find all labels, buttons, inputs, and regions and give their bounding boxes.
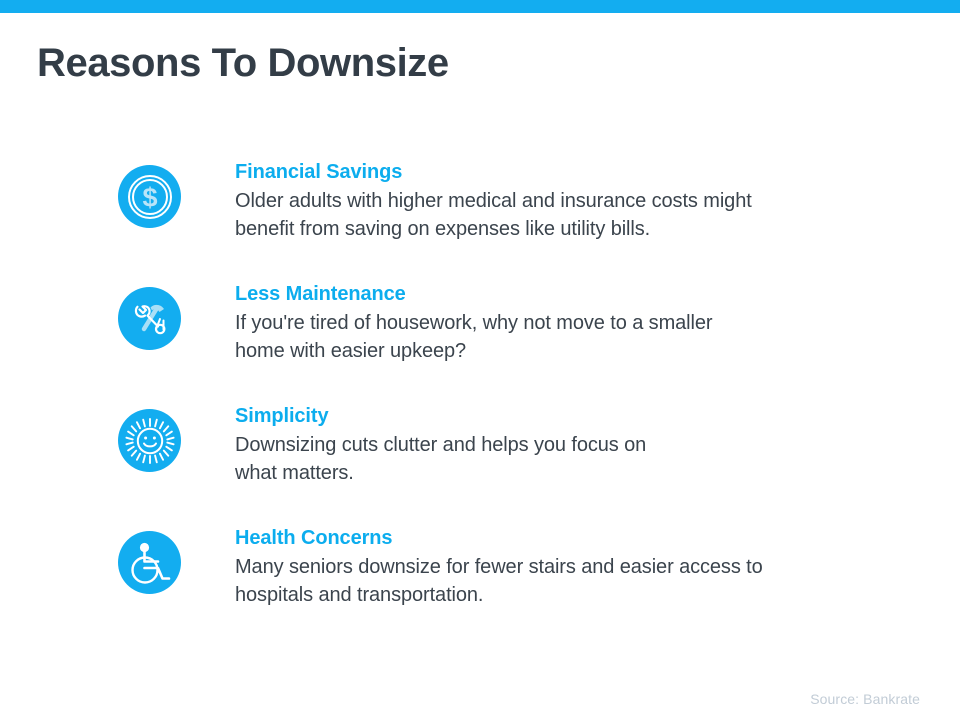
- reason-heading: Financial Savings: [235, 160, 895, 184]
- page-title: Reasons To Downsize: [37, 40, 449, 86]
- reason-heading: Health Concerns: [235, 526, 895, 550]
- body-line: benefit from saving on expenses like uti…: [235, 215, 895, 243]
- list-item: Health Concerns Many seniors downsize fo…: [0, 526, 960, 648]
- body-line: hospitals and transportation.: [235, 581, 895, 609]
- reason-body: Older adults with higher medical and ins…: [235, 187, 895, 243]
- top-accent-bar: [0, 0, 960, 13]
- body-line: what matters.: [235, 459, 895, 487]
- svg-text:$: $: [142, 182, 157, 212]
- body-line: home with easier upkeep?: [235, 337, 895, 365]
- slide-canvas: Reasons To Downsize $ Financial Savings …: [0, 0, 960, 720]
- dollar-coin-icon: $: [118, 165, 181, 228]
- smiling-sun-icon: [118, 409, 181, 472]
- reason-body: Many seniors downsize for fewer stairs a…: [235, 553, 895, 609]
- list-item: Simplicity Downsizing cuts clutter and h…: [0, 404, 960, 526]
- reason-body: If you're tired of housework, why not mo…: [235, 309, 895, 365]
- body-line: Older adults with higher medical and ins…: [235, 187, 895, 215]
- list-item: Less Maintenance If you're tired of hous…: [0, 282, 960, 404]
- source-attribution: Source: Bankrate: [810, 691, 920, 707]
- hammer-wrench-tools-icon: [118, 287, 181, 350]
- reason-text-block: Financial Savings Older adults with high…: [235, 160, 895, 243]
- list-item: $ Financial Savings Older adults with hi…: [0, 160, 960, 282]
- reason-text-block: Health Concerns Many seniors downsize fo…: [235, 526, 895, 609]
- body-line: If you're tired of housework, why not mo…: [235, 309, 895, 337]
- reason-text-block: Less Maintenance If you're tired of hous…: [235, 282, 895, 365]
- reason-heading: Less Maintenance: [235, 282, 895, 306]
- body-line: Downsizing cuts clutter and helps you fo…: [235, 431, 895, 459]
- body-line: Many seniors downsize for fewer stairs a…: [235, 553, 895, 581]
- reason-body: Downsizing cuts clutter and helps you fo…: [235, 431, 895, 487]
- wheelchair-accessibility-icon: [118, 531, 181, 594]
- reasons-list: $ Financial Savings Older adults with hi…: [0, 160, 960, 648]
- reason-heading: Simplicity: [235, 404, 895, 428]
- reason-text-block: Simplicity Downsizing cuts clutter and h…: [235, 404, 895, 487]
